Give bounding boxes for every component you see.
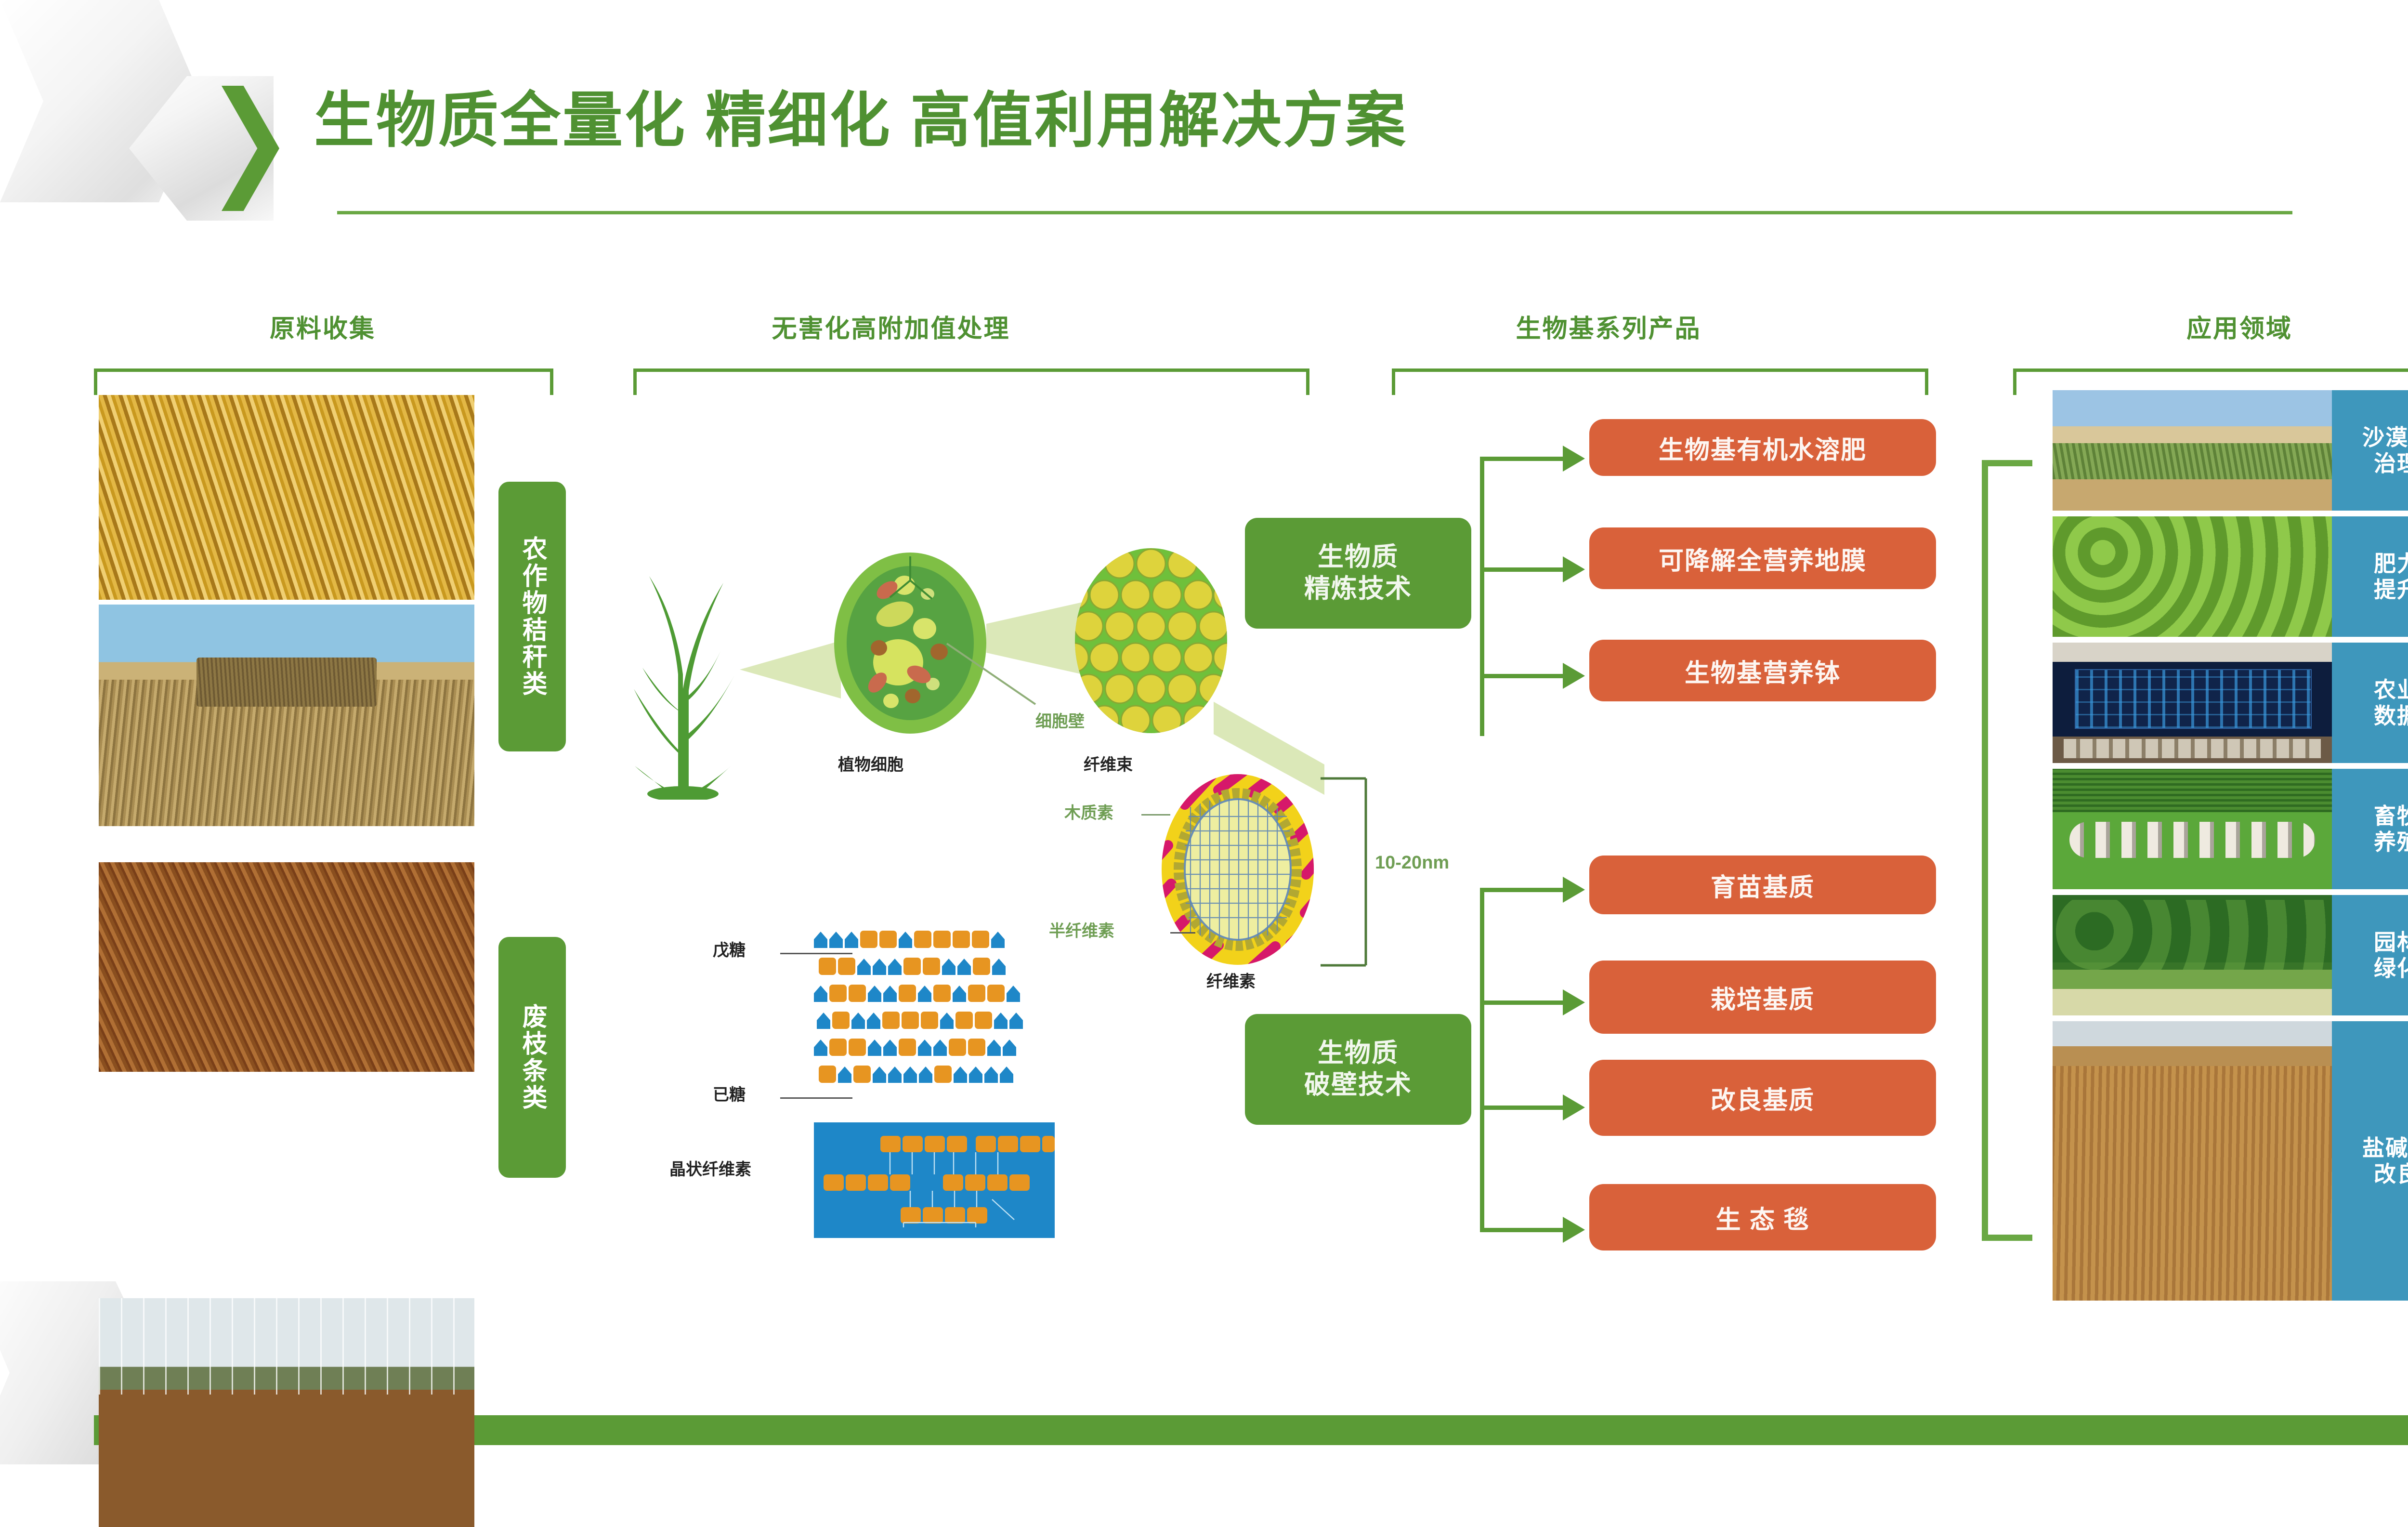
microfibril-cross-section-diagram [1151, 771, 1324, 973]
application-desertification-line1: 沙漠化 [2362, 424, 2408, 450]
connector-wallbreaking-branch-4 [1480, 1228, 1567, 1232]
section-header-raw-material: 原料收集 [173, 308, 472, 344]
tech-biomass-refining-line2: 精炼技术 [1304, 573, 1412, 605]
bracket-raw-material [94, 369, 553, 395]
hexose-label: 已糖 [713, 1081, 746, 1105]
product-ecological-blanket[interactable]: 生 态 毯 [1589, 1184, 1936, 1251]
hemicellulose-leader-line [1170, 932, 1195, 934]
lignin-label: 木质素 [1064, 800, 1113, 823]
tech-biomass-refining-line1: 生物质 [1318, 541, 1399, 573]
application-row-desertification-control[interactable]: 沙漠化 治理 [2053, 390, 2408, 511]
title-underline [337, 211, 2292, 214]
sugar-chain-diagram [814, 930, 1055, 1108]
product-cultivation-substrate[interactable]: 栽培基质 [1589, 961, 1936, 1034]
application-tag-fertility-improvement: 肥力 提升 [2332, 516, 2408, 637]
hemicellulose-label: 半纤维素 [1049, 918, 1114, 941]
product-bio-nutrient-pot[interactable]: 生物基营养钵 [1589, 640, 1936, 701]
plant-cell-label: 植物细胞 [838, 751, 903, 775]
application-fertility-line2: 提升 [2374, 577, 2408, 603]
application-livestock-line1: 畜牧 [2374, 803, 2408, 829]
application-agriculture-data-line1: 农业 [2374, 677, 2408, 703]
arrow-wallbreaking-2-icon [1563, 989, 1585, 1015]
application-row-fertility-improvement[interactable]: 肥力 提升 [2053, 516, 2408, 637]
lignin-leader-line [1141, 814, 1170, 816]
dimension-label: 10-20nm [1375, 853, 1449, 873]
application-saline-line1: 盐碱地 [2362, 1135, 2408, 1161]
application-livestock-line2: 养殖 [2374, 829, 2408, 855]
product-improved-substrate[interactable]: 改良基质 [1589, 1060, 1936, 1136]
product-seedling-substrate[interactable]: 育苗基质 [1589, 856, 1936, 914]
arrow-wallbreaking-1-icon [1563, 877, 1585, 903]
connector-refining-branch-1 [1480, 457, 1567, 461]
grass-plant-icon [621, 530, 746, 800]
straw-bale-photo [99, 605, 474, 826]
arrow-refining-1-icon [1563, 446, 1585, 472]
application-agriculture-data-line2: 数据 [2374, 703, 2408, 729]
application-tag-landscape-greening: 园林 绿化 [2332, 895, 2408, 1015]
tech-biomass-refining[interactable]: 生物质 精炼技术 [1245, 518, 1471, 629]
application-landscape-line2: 绿化 [2374, 955, 2408, 981]
category-crop-straw: 农作物秸秆类 [498, 482, 566, 751]
connector-wallbreaking-branch-3 [1480, 1106, 1567, 1110]
application-desertification-line2: 治理 [2374, 450, 2408, 476]
product-bio-water-soluble-fertilizer[interactable]: 生物基有机水溶肥 [1589, 419, 1936, 476]
bracket-to-applications [1982, 460, 2032, 1241]
arrow-wallbreaking-4-icon [1563, 1217, 1585, 1243]
product-degradable-nutrient-film[interactable]: 可降解全营养地膜 [1589, 527, 1936, 589]
fiber-bundle-label: 纤维束 [1084, 751, 1133, 775]
connector-refining-branch-2 [1480, 567, 1567, 572]
application-tag-agriculture-data: 农业 数据 [2332, 643, 2408, 763]
arrow-wallbreaking-3-icon [1563, 1094, 1585, 1120]
cabbage-field-photo [2053, 516, 2332, 637]
section-header-bio-products: 生物基系列产品 [1324, 308, 1893, 344]
sheep-pasture-photo [2053, 769, 2332, 889]
application-landscape-line1: 园林 [2374, 929, 2408, 955]
vineyard-pruning-photo [99, 1298, 474, 1527]
pruned-branches-photo [99, 862, 474, 1072]
application-tag-livestock-breeding: 畜牧 养殖 [2332, 769, 2408, 889]
arrow-refining-3-icon [1563, 663, 1585, 689]
application-tag-saline-land-improvement: 盐碱地 改良 [2332, 1021, 2408, 1301]
application-tag-desertification-control: 沙漠化 治理 [2332, 390, 2408, 511]
section-header-processing: 无害化高附加值处理 [482, 308, 1300, 344]
data-center-photo [2053, 643, 2332, 763]
tech-biomass-wall-breaking-line2: 破壁技术 [1304, 1069, 1412, 1101]
application-row-landscape-greening[interactable]: 园林 绿化 [2053, 895, 2408, 1015]
bracket-processing [633, 369, 1309, 395]
cellulose-label: 纤维素 [1206, 968, 1256, 992]
tech-biomass-wall-breaking[interactable]: 生物质 破壁技术 [1245, 1014, 1471, 1125]
corn-stover-photo [99, 395, 474, 600]
tech-biomass-wall-breaking-line1: 生物质 [1318, 1038, 1399, 1069]
magnify-cone-1-icon [740, 641, 841, 698]
category-waste-branch: 废枝条类 [498, 937, 566, 1178]
application-saline-line2: 改良 [2374, 1161, 2408, 1187]
section-header-applications: 应用领域 [2013, 308, 2408, 344]
desert-restoration-photo [2053, 390, 2332, 511]
connector-wallbreaking-trunk [1480, 888, 1484, 1232]
dimension-caliper-icon [1320, 771, 1373, 973]
connector-wallbreaking-branch-1 [1480, 888, 1567, 892]
connector-refining-branch-3 [1480, 674, 1567, 678]
category-crop-straw-label: 农作物秸秆类 [519, 536, 546, 698]
saline-field-photo [2053, 1021, 2332, 1301]
arrow-refining-2-icon [1563, 556, 1585, 582]
application-row-livestock-breeding[interactable]: 畜牧 养殖 [2053, 769, 2408, 889]
fiber-bundle-diagram [1074, 547, 1228, 735]
park-trees-photo [2053, 895, 2332, 1015]
application-row-saline-land-improvement[interactable]: 盐碱地 改良 [2053, 1021, 2408, 1301]
page-title: 生物质全量化 精细化 高值利用解决方案 [314, 91, 1407, 151]
category-waste-branch-label: 废枝条类 [519, 1003, 546, 1111]
crystalline-cellulose-label: 晶状纤维素 [669, 1156, 751, 1180]
connector-wallbreaking-branch-2 [1480, 1000, 1567, 1005]
connector-refining-trunk [1480, 457, 1484, 736]
pentose-label: 戊糖 [713, 937, 746, 961]
application-row-agriculture-data[interactable]: 农业 数据 [2053, 643, 2408, 763]
application-fertility-line1: 肥力 [2374, 551, 2408, 577]
crystalline-cellulose-diagram [814, 1122, 1055, 1238]
bracket-bio-products [1392, 369, 1928, 395]
